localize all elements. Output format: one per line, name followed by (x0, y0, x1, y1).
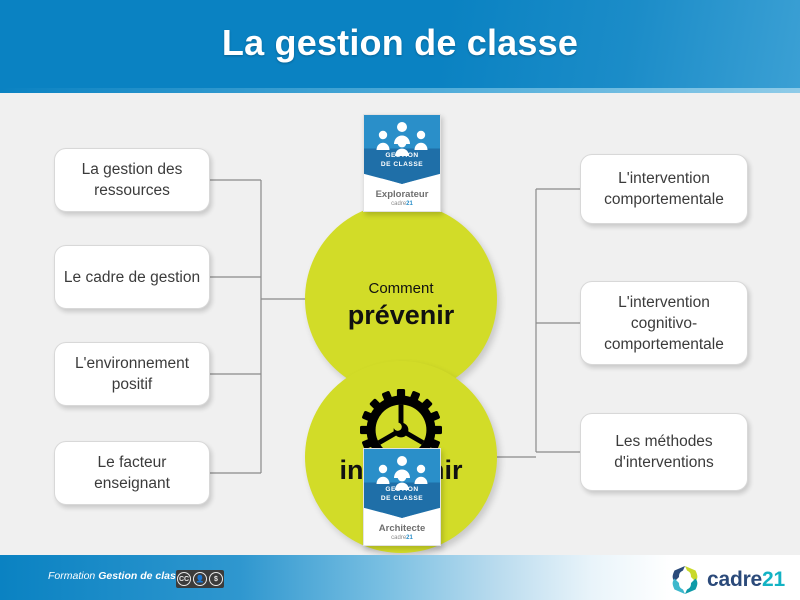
badge-category-line2: DE CLASSE (364, 494, 440, 503)
page-title: La gestion de classe (0, 22, 800, 64)
badge-brand: cadre21 (391, 200, 413, 208)
node-label: Le cadre de gestion (64, 267, 200, 288)
cadre21-logo-icon (670, 565, 700, 595)
badge-top-panel: GESTION DE CLASSE (364, 115, 440, 185)
node-label: L'intervention comportementale (589, 168, 739, 210)
node-box-l-intervention-cognitivo-comportementale[interactable]: L'intervention cognitivo-comportementale (580, 281, 748, 365)
badge-explorateur: GESTION DE CLASSE Explorateur cadre21 (363, 114, 441, 212)
badge-category-line1: GESTION (364, 151, 440, 160)
logo-text-accent: 21 (762, 568, 785, 591)
creative-commons-badge: CC 👤 $ (176, 570, 224, 588)
node-label: Les méthodes d'interventions (589, 431, 739, 473)
badge-level: Architecte (379, 523, 425, 534)
node-box-la-gestion-des-ressources[interactable]: La gestion des ressources (54, 148, 210, 212)
badge-category: GESTION DE CLASSE (364, 151, 440, 169)
nc-icon: $ (209, 572, 223, 586)
diagram-stage: La gestion des ressources Le cadre de ge… (0, 93, 800, 555)
node-box-le-facteur-enseignant[interactable]: Le facteur enseignant (54, 441, 210, 505)
node-label: L'intervention cognitivo-comportementale (589, 292, 739, 355)
logo-wordmark: cadre21 (707, 569, 785, 591)
cc-icon: CC (177, 572, 191, 586)
badge-brand-prefix: cadre (391, 201, 406, 207)
circle-title: prévenir (348, 300, 455, 330)
logo-text-main: cadre (707, 568, 762, 591)
by-icon: 👤 (193, 572, 207, 586)
node-box-les-methodes-d-interventions[interactable]: Les méthodes d'interventions (580, 413, 748, 491)
footer-credit-course: Gestion de classe (98, 570, 187, 582)
badge-brand-prefix: cadre (391, 535, 406, 541)
cadre21-logo[interactable]: cadre21 (670, 563, 790, 597)
badge-bottom-panel: Architecte cadre21 (364, 519, 440, 545)
footer-credit-prefix: Formation (48, 570, 98, 582)
node-label: Le facteur enseignant (63, 452, 201, 494)
circle-subtitle: Comment (368, 280, 433, 298)
footer-credit: Formation Gestion de classe (48, 569, 187, 583)
node-box-le-cadre-de-gestion[interactable]: Le cadre de gestion (54, 245, 210, 309)
badge-category-line1: GESTION (364, 485, 440, 494)
slide-header: La gestion de classe (0, 0, 800, 88)
badge-category-line2: DE CLASSE (364, 160, 440, 169)
node-label: La gestion des ressources (63, 159, 201, 201)
badge-architecte: GESTION DE CLASSE Architecte cadre21 (363, 448, 441, 546)
node-box-l-intervention-comportementale[interactable]: L'intervention comportementale (580, 154, 748, 224)
badge-category: GESTION DE CLASSE (364, 485, 440, 503)
badge-top-panel: GESTION DE CLASSE (364, 449, 440, 519)
badge-bottom-panel: Explorateur cadre21 (364, 185, 440, 211)
badge-level: Explorateur (376, 189, 429, 200)
node-label: L'environnement positif (63, 353, 201, 395)
node-box-l-environnement-positif[interactable]: L'environnement positif (54, 342, 210, 406)
badge-brand: cadre21 (391, 534, 413, 542)
badge-brand-suffix: 21 (406, 535, 413, 541)
badge-brand-suffix: 21 (406, 201, 413, 207)
